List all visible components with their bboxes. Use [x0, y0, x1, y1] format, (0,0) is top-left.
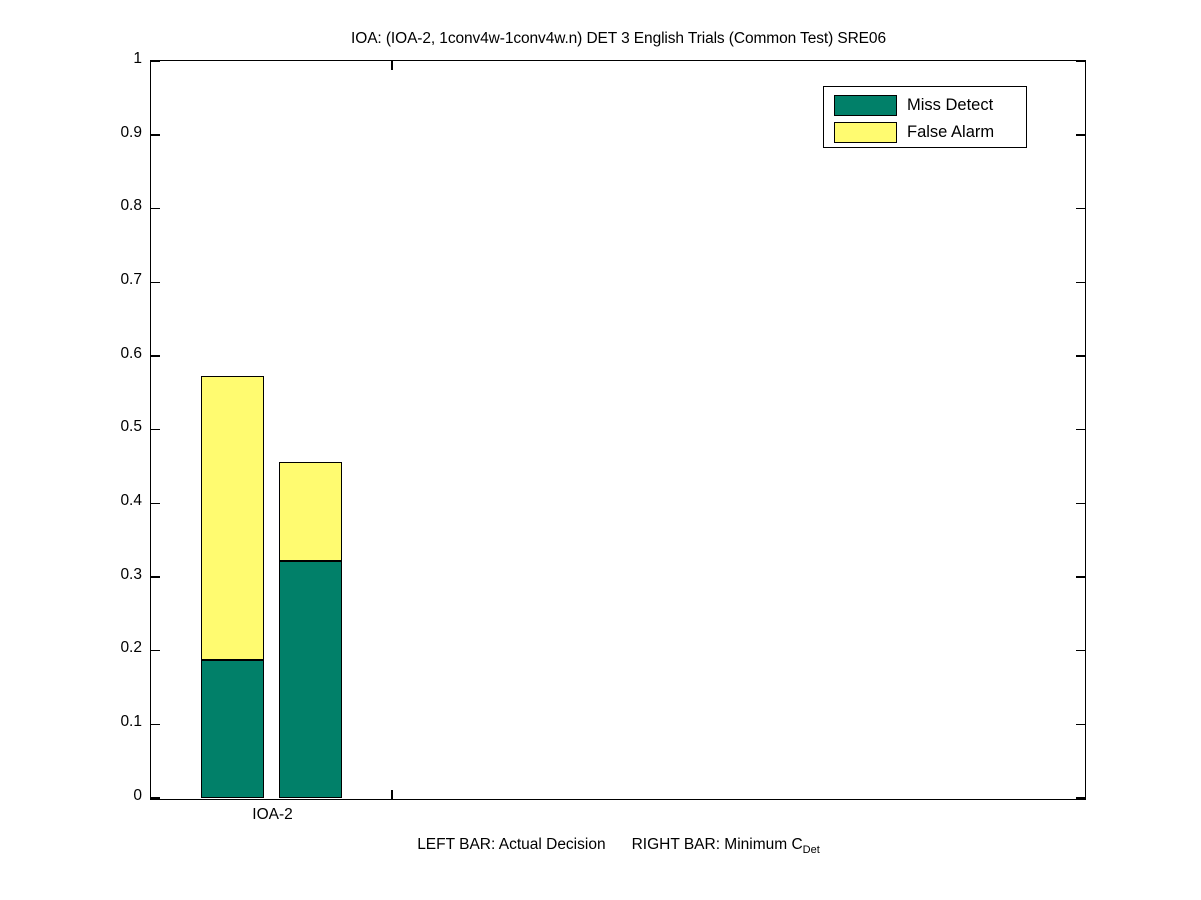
bar-segment-miss-detect: [279, 561, 342, 798]
y-tick-label: 0.2: [120, 639, 142, 657]
y-tick-mark-right: [1076, 134, 1085, 136]
bar-group: [201, 61, 264, 798]
y-tick-mark: [151, 282, 160, 284]
legend-label: Miss Detect: [907, 96, 993, 115]
y-tick-mark-right: [1076, 503, 1085, 505]
y-tick-mark: [151, 576, 160, 578]
y-tick-mark-right: [1076, 724, 1085, 726]
x-tick-label: IOA-2: [252, 806, 292, 824]
y-tick-mark: [151, 355, 160, 357]
y-tick-mark-right: [1076, 429, 1085, 431]
y-tick-label: 0.3: [120, 566, 142, 584]
legend-swatch: [834, 95, 897, 116]
chart-figure: IOA: (IOA-2, 1conv4w-1conv4w.n) DET 3 En…: [0, 0, 1201, 900]
caption-left: LEFT BAR: Actual Decision: [417, 836, 605, 853]
y-tick-mark-right: [1076, 208, 1085, 210]
y-tick-label: 0: [133, 787, 142, 805]
plot-area: 00.10.20.30.40.50.60.70.80.91: [150, 60, 1086, 800]
y-tick-label: 0.8: [120, 197, 142, 215]
chart-title: IOA: (IOA-2, 1conv4w-1conv4w.n) DET 3 En…: [150, 30, 1087, 48]
y-tick-mark: [151, 208, 160, 210]
y-tick-label: 0.1: [120, 713, 142, 731]
y-tick-label: 0.4: [120, 492, 142, 510]
y-tick-mark-right: [1076, 282, 1085, 284]
bar-segment-miss-detect: [201, 660, 264, 798]
y-tick-mark: [151, 797, 160, 799]
y-tick-mark: [151, 724, 160, 726]
legend-item: Miss Detect: [834, 93, 993, 117]
y-tick-mark: [151, 134, 160, 136]
y-tick-mark: [151, 503, 160, 505]
y-tick-label: 0.5: [120, 418, 142, 436]
legend-item: False Alarm: [834, 120, 994, 144]
y-tick-mark-right: [1076, 61, 1085, 63]
chart-legend: Miss DetectFalse Alarm: [823, 86, 1027, 148]
plot-inner-surface: 00.10.20.30.40.50.60.70.80.91: [151, 61, 1085, 799]
y-tick-mark: [151, 429, 160, 431]
legend-label: False Alarm: [907, 123, 994, 142]
chart-caption: LEFT BAR: Actual DecisionRIGHT BAR: Mini…: [150, 836, 1087, 854]
bar-segment-false-alarm: [279, 462, 342, 561]
y-tick-mark-right: [1076, 797, 1085, 799]
x-axis-tick-mark-top: [391, 61, 393, 70]
y-tick-label: 1: [133, 50, 142, 68]
bar-segment-false-alarm: [201, 376, 264, 660]
y-tick-mark-right: [1076, 650, 1085, 652]
y-tick-label: 0.7: [120, 271, 142, 289]
y-tick-mark: [151, 650, 160, 652]
y-tick-mark-right: [1076, 576, 1085, 578]
y-tick-mark-right: [1076, 355, 1085, 357]
caption-right-subscript: Det: [803, 844, 820, 856]
x-axis-tick-mark: [391, 790, 393, 799]
legend-swatch: [834, 122, 897, 143]
y-tick-label: 0.6: [120, 345, 142, 363]
y-tick-label: 0.9: [120, 124, 142, 142]
caption-right-main: RIGHT BAR: Minimum C: [632, 836, 803, 853]
bar-group: [279, 61, 342, 798]
caption-right: RIGHT BAR: Minimum CDet: [632, 836, 820, 853]
y-tick-mark: [151, 61, 160, 63]
